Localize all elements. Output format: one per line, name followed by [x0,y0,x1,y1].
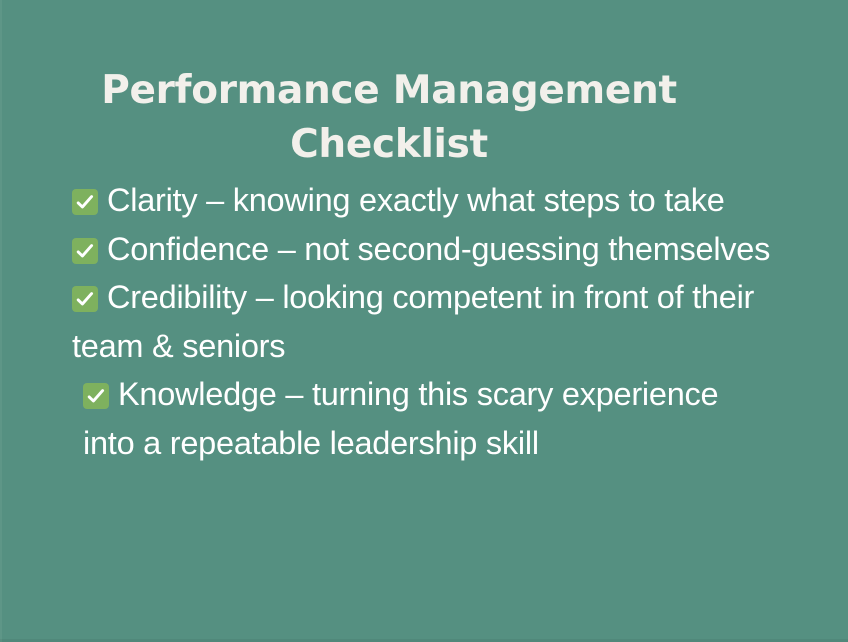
list-item: Credibility – looking competent in front… [72,273,772,370]
checklist-slide: Performance Management Checklist Clarity… [0,0,848,642]
check-mark-button-icon [83,383,109,409]
list-item-label: Credibility – looking competent in front… [72,279,754,364]
checklist: Clarity – knowing exactly what steps to … [72,176,772,467]
list-item: Knowledge – turning this scary experienc… [72,370,772,467]
list-item: Clarity – knowing exactly what steps to … [72,176,772,225]
check-mark-button-icon [72,238,98,264]
page-title: Performance Management Checklist [72,64,706,172]
list-item-label: Knowledge – turning this scary experienc… [83,376,718,461]
slide-left-edge-highlight [0,0,2,642]
list-item-label: Clarity – knowing exactly what steps to … [107,182,725,218]
list-item: Confidence – not second-guessing themsel… [72,225,772,274]
list-item-label: Confidence – not second-guessing themsel… [107,231,770,267]
check-mark-button-icon [72,286,98,312]
check-mark-button-icon [72,189,98,215]
